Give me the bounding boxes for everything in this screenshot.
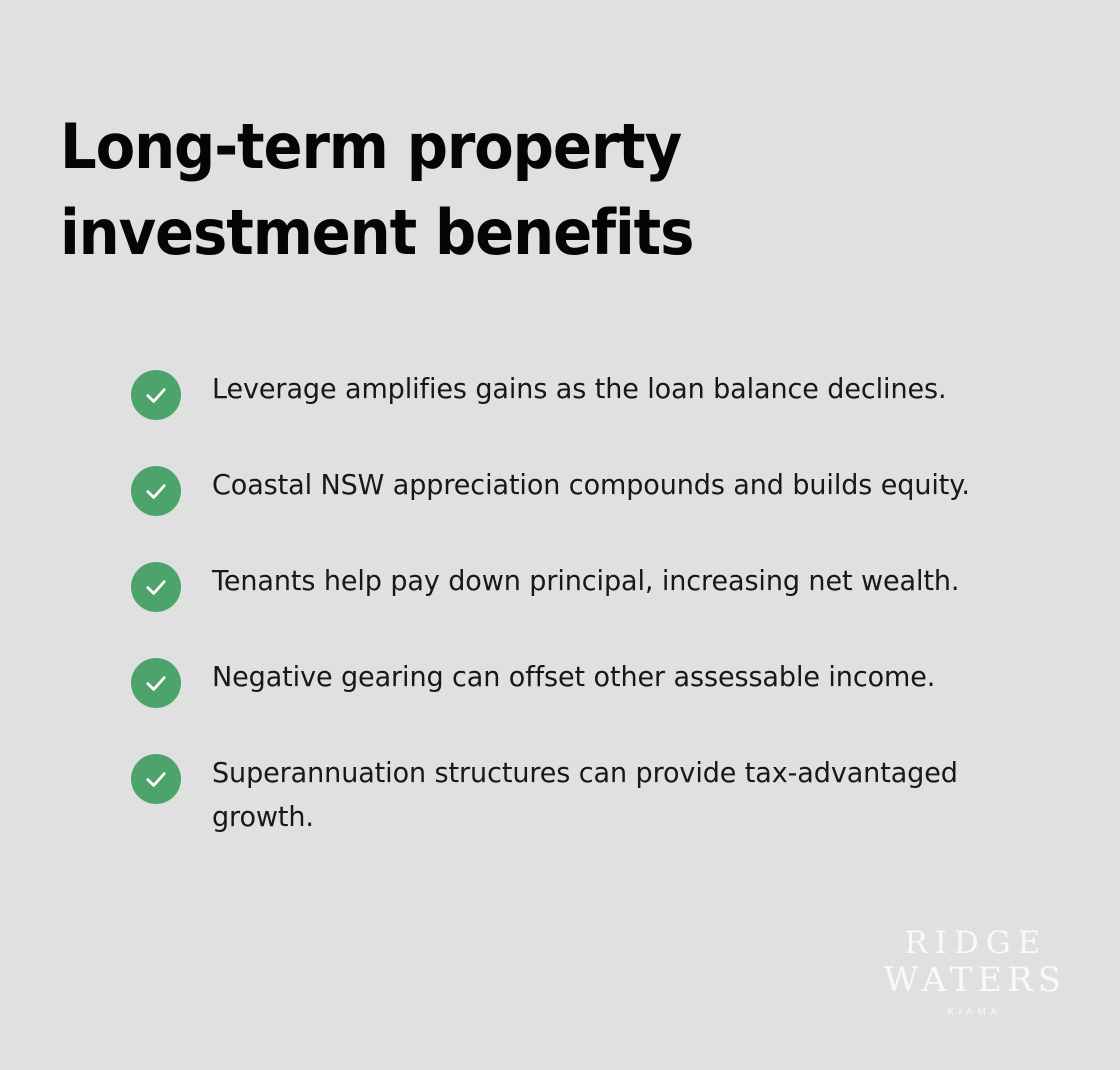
list-item: Leverage amplifies gains as the loan bal… [131,366,1061,420]
brand-logo-location: KIAMA [879,1008,1066,1018]
check-circle-icon [131,658,181,708]
benefit-text: Tenants help pay down principal, increas… [212,558,1031,603]
check-circle-icon [131,370,181,420]
benefits-list: Leverage amplifies gains as the loan bal… [131,366,1061,839]
list-item: Superannuation structures can provide ta… [131,750,1061,839]
benefit-text: Negative gearing can offset other assess… [212,654,1031,699]
benefit-text: Leverage amplifies gains as the loan bal… [212,366,1031,411]
brand-logo: RIDGE WATERS KIAMA [879,928,1066,1018]
list-item: Tenants help pay down principal, increas… [131,558,1061,612]
list-item: Coastal NSW appreciation compounds and b… [131,462,1061,516]
brand-logo-line-1: RIDGE [879,928,1066,959]
check-circle-icon [131,562,181,612]
page-title: Long-term property investment benefits [60,104,730,276]
check-circle-icon [131,466,181,516]
benefit-text: Superannuation structures can provide ta… [212,750,1031,839]
brand-logo-line-2: WATERS [879,963,1066,997]
check-circle-icon [131,754,181,804]
slide-canvas: Long-term property investment benefits L… [0,0,1120,1070]
list-item: Negative gearing can offset other assess… [131,654,1061,708]
benefit-text: Coastal NSW appreciation compounds and b… [212,462,1031,507]
